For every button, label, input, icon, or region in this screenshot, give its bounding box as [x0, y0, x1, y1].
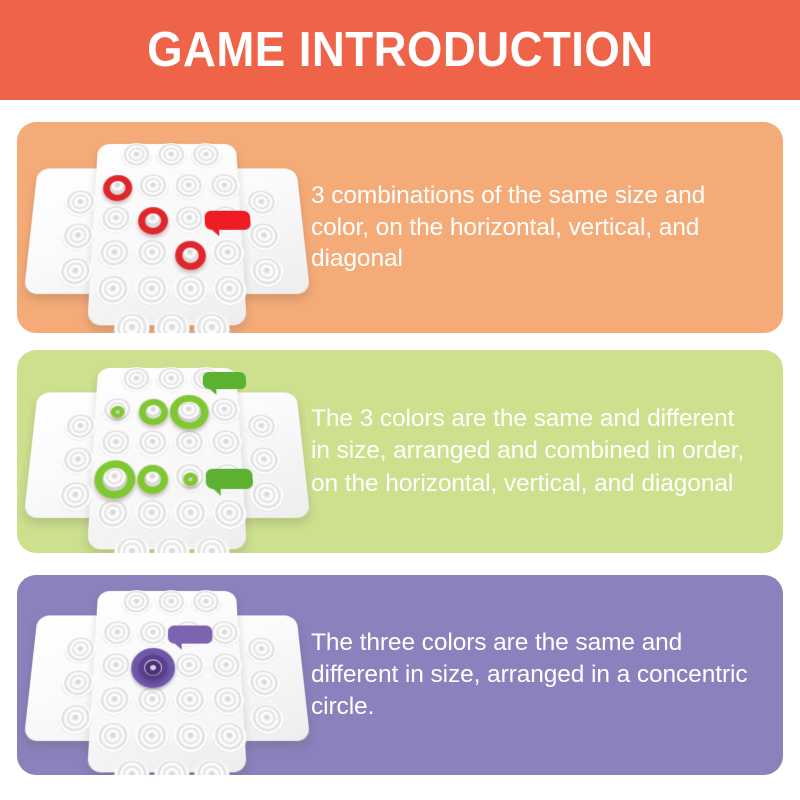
panel-description-text: The 3 colors are the same and different …: [311, 403, 783, 500]
board-socket: [155, 590, 186, 617]
board-socket: [208, 620, 241, 648]
board-socket: [173, 173, 205, 201]
game-board-figure-purple: [17, 575, 317, 775]
board-socket: [137, 620, 169, 648]
page-header-banner: GAME INTRODUCTION: [0, 0, 800, 100]
board-socket: [120, 143, 152, 170]
board-callout-tag: [202, 371, 246, 388]
info-panel-concentric-circle: The three colors are the same and differ…: [17, 575, 783, 775]
game-board-purple: [31, 577, 303, 773]
info-panel-order-combination: The 3 colors are the same and different …: [17, 350, 783, 553]
game-piece-ring-large[interactable]: [169, 394, 208, 428]
board-socket: [120, 367, 152, 394]
game-board-green: [31, 354, 303, 550]
board-callout-tag: [204, 210, 251, 229]
board-socket: [120, 590, 152, 617]
panel-description-text: 3 combinations of the same size and colo…: [311, 180, 783, 276]
board-callout-tag: [167, 625, 212, 643]
page-root: GAME INTRODUCTION 3 combinations of the …: [0, 0, 800, 800]
game-board-red: [31, 130, 303, 326]
game-board-figure-green: [17, 350, 317, 553]
game-piece-ring-medium[interactable]: [138, 398, 167, 424]
board-socket: [155, 143, 186, 170]
board-socket: [63, 636, 97, 665]
board-socket: [190, 143, 222, 170]
info-panel-horizontal-vertical-diagonal: 3 combinations of the same size and colo…: [17, 122, 783, 333]
panel-description-text: The three colors are the same and differ…: [311, 627, 783, 724]
page-title: GAME INTRODUCTION: [147, 22, 654, 78]
game-board-figure-red: [17, 122, 317, 333]
board-socket: [137, 173, 169, 201]
board-socket: [190, 590, 222, 617]
board-socket: [155, 367, 186, 394]
game-piece-ring-small[interactable]: [110, 405, 124, 417]
game-piece-ring-medium[interactable]: [102, 174, 132, 200]
